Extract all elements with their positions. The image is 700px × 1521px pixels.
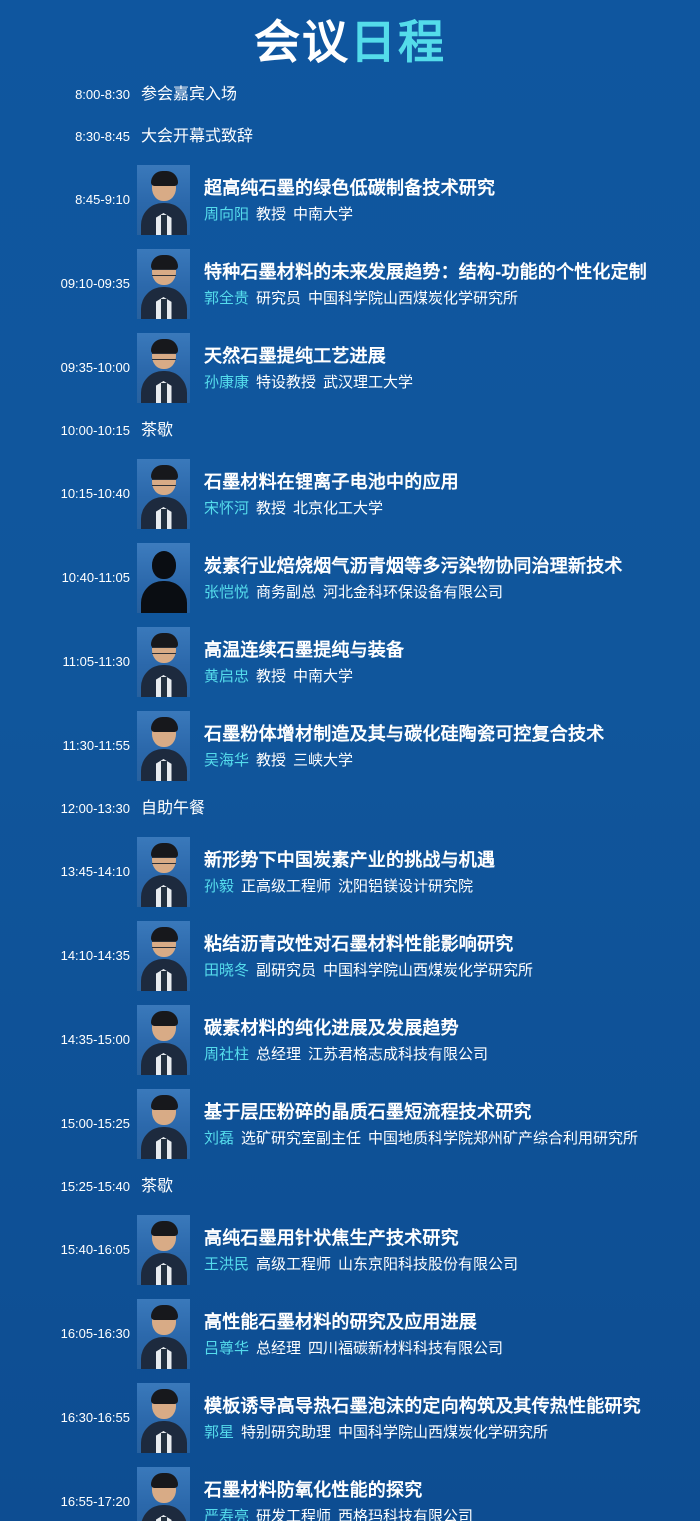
speaker-role: 选矿研究室副主任 (241, 1130, 361, 1147)
session-text: 高温连续石墨提纯与装备黄启忠教授中南大学 (190, 638, 700, 687)
agenda-session-row: 14:10-14:35粘结沥青改性对石墨材料性能影响研究田晓冬副研究员中国科学院… (0, 914, 700, 998)
session-text: 基于层压粉碎的晶质石墨短流程技术研究刘磊选矿研究室副主任中国地质科学院郑州矿产综… (190, 1100, 700, 1149)
photo-hair (151, 1011, 178, 1026)
agenda-break-row: 10:00-10:15茶歇 (0, 410, 700, 452)
talk-title: 碳素材料的纯化进展及发展趋势 (204, 1016, 700, 1040)
session-text: 特种石墨材料的未来发展趋势：结构-功能的个性化定制郭全贵研究员中国科学院山西煤炭… (190, 260, 700, 309)
speaker-org: 中国地质科学院郑州矿产综合利用研究所 (368, 1130, 638, 1147)
session-text: 石墨粉体增材制造及其与碳化硅陶瓷可控复合技术吴海华教授三峡大学 (190, 722, 700, 771)
talk-title: 基于层压粉碎的晶质石墨短流程技术研究 (204, 1100, 700, 1124)
talk-title: 高纯石墨用针状焦生产技术研究 (204, 1226, 700, 1250)
photo-hair (151, 843, 178, 858)
agenda-session-row: 11:05-11:30高温连续石墨提纯与装备黄启忠教授中南大学 (0, 620, 700, 704)
speaker-photo (137, 165, 190, 235)
photo-hair (151, 633, 178, 648)
session-text: 高纯石墨用针状焦生产技术研究王洪民高级工程师山东京阳科技股份有限公司 (190, 1226, 700, 1275)
speaker-role: 高级工程师 (256, 1256, 331, 1273)
agenda-session-row: 10:40-11:05炭素行业焙烧烟气沥青烟等多污染物协同治理新技术张恺悦商务副… (0, 536, 700, 620)
speaker-line: 孙康康特设教授武汉理工大学 (204, 373, 700, 393)
speaker-name: 周社柱 (204, 1046, 249, 1063)
photo-hair (151, 1305, 178, 1320)
speaker-org: 武汉理工大学 (323, 374, 413, 391)
agenda-time: 10:15-10:40 (0, 486, 130, 502)
agenda-time: 16:30-16:55 (0, 1410, 130, 1426)
speaker-photo (137, 627, 190, 697)
speaker-name: 田晓冬 (204, 962, 249, 979)
speaker-org: 中南大学 (293, 668, 353, 685)
speaker-line: 张恺悦商务副总河北金科环保设备有限公司 (204, 583, 700, 603)
agenda-time: 14:10-14:35 (0, 948, 130, 964)
speaker-role: 副研究员 (256, 962, 316, 979)
speaker-line: 吴海华教授三峡大学 (204, 751, 700, 771)
speaker-org: 中国科学院山西煤炭化学研究所 (323, 962, 533, 979)
speaker-org: 四川福碳新材料科技有限公司 (308, 1340, 503, 1357)
speaker-role: 特别研究助理 (241, 1424, 331, 1441)
speaker-line: 周社柱总经理江苏君格志成科技有限公司 (204, 1045, 700, 1065)
speaker-org: 沈阳铝镁设计研究院 (338, 878, 473, 895)
talk-title: 炭素行业焙烧烟气沥青烟等多污染物协同治理新技术 (204, 554, 700, 578)
photo-tie (161, 1139, 167, 1159)
agenda-time: 10:40-11:05 (0, 570, 130, 586)
session-text: 碳素材料的纯化进展及发展趋势周社柱总经理江苏君格志成科技有限公司 (190, 1016, 700, 1065)
photo-hair (151, 927, 178, 942)
agenda-time: 09:35-10:00 (0, 360, 130, 376)
photo-tie (161, 509, 167, 529)
talk-title: 高温连续石墨提纯与装备 (204, 638, 700, 662)
photo-hair (151, 171, 178, 186)
photo-tie (161, 1349, 167, 1369)
talk-title: 粘结沥青改性对石墨材料性能影响研究 (204, 932, 700, 956)
agenda-time: 8:45-9:10 (0, 192, 130, 208)
agenda-time: 15:40-16:05 (0, 1242, 130, 1258)
speaker-org: 中国科学院山西煤炭化学研究所 (338, 1424, 548, 1441)
photo-tie (161, 383, 167, 403)
session-text: 新形势下中国炭素产业的挑战与机遇孙毅正高级工程师沈阳铝镁设计研究院 (190, 848, 700, 897)
agenda-time: 8:30-8:45 (0, 129, 130, 145)
agenda-session-row: 09:10-09:35特种石墨材料的未来发展趋势：结构-功能的个性化定制郭全贵研… (0, 242, 700, 326)
speaker-photo (137, 1005, 190, 1075)
talk-title: 新形势下中国炭素产业的挑战与机遇 (204, 848, 700, 872)
agenda-session-row: 10:15-10:40石墨材料在锂离子电池中的应用宋怀河教授北京化工大学 (0, 452, 700, 536)
agenda-time: 16:55-17:20 (0, 1494, 130, 1510)
speaker-line: 黄启忠教授中南大学 (204, 667, 700, 687)
agenda-session-row: 13:45-14:10新形势下中国炭素产业的挑战与机遇孙毅正高级工程师沈阳铝镁设… (0, 830, 700, 914)
agenda-break-label: 自助午餐 (130, 799, 205, 819)
session-text: 超高纯石墨的绿色低碳制备技术研究周向阳教授中南大学 (190, 176, 700, 225)
session-text: 模板诱导高导热石墨泡沫的定向构筑及其传热性能研究郭星特别研究助理中国科学院山西煤… (190, 1394, 700, 1443)
session-text: 石墨材料在锂离子电池中的应用宋怀河教授北京化工大学 (190, 470, 700, 519)
speaker-photo (137, 1383, 190, 1453)
speaker-name: 吴海华 (204, 752, 249, 769)
speaker-name: 孙毅 (204, 878, 234, 895)
speaker-photo (137, 333, 190, 403)
photo-tie (161, 299, 167, 319)
speaker-photo (137, 249, 190, 319)
speaker-line: 吕尊华总经理四川福碳新材料科技有限公司 (204, 1339, 700, 1359)
speaker-name: 孙康康 (204, 374, 249, 391)
session-text: 石墨材料防氧化性能的探究严寿亮研发工程师西格玛科技有限公司 (190, 1478, 700, 1521)
agenda-break-label: 大会开幕式致辞 (130, 127, 253, 147)
speaker-role: 教授 (256, 206, 286, 223)
agenda-list: 8:00-8:30参会嘉宾入场8:30-8:45大会开幕式致辞8:45-9:10… (0, 74, 700, 1521)
photo-head (152, 551, 176, 579)
speaker-photo (137, 1089, 190, 1159)
photo-tie (161, 761, 167, 781)
speaker-org: 中南大学 (293, 206, 353, 223)
speaker-line: 王洪民高级工程师山东京阳科技股份有限公司 (204, 1255, 700, 1275)
speaker-org: 山东京阳科技股份有限公司 (338, 1256, 518, 1273)
speaker-role: 研究员 (256, 290, 301, 307)
speaker-line: 周向阳教授中南大学 (204, 205, 700, 225)
agenda-break-label: 参会嘉宾入场 (130, 85, 237, 105)
photo-hair (151, 1473, 178, 1488)
agenda-time: 14:35-15:00 (0, 1032, 130, 1048)
photo-tie (161, 1265, 167, 1285)
agenda-time: 15:00-15:25 (0, 1116, 130, 1132)
photo-tie (161, 887, 167, 907)
photo-tie (161, 1517, 167, 1521)
photo-tie (161, 677, 167, 697)
speaker-photo (137, 711, 190, 781)
speaker-org: 河北金科环保设备有限公司 (323, 584, 503, 601)
photo-tie (161, 1433, 167, 1453)
talk-title: 天然石墨提纯工艺进展 (204, 344, 700, 368)
agenda-session-row: 16:30-16:55模板诱导高导热石墨泡沫的定向构筑及其传热性能研究郭星特别研… (0, 1376, 700, 1460)
speaker-photo (137, 1299, 190, 1369)
photo-hair (151, 717, 178, 732)
agenda-session-row: 09:35-10:00天然石墨提纯工艺进展孙康康特设教授武汉理工大学 (0, 326, 700, 410)
speaker-org: 江苏君格志成科技有限公司 (308, 1046, 488, 1063)
agenda-session-row: 16:05-16:30高性能石墨材料的研究及应用进展吕尊华总经理四川福碳新材料科… (0, 1292, 700, 1376)
agenda-break-row: 12:00-13:30自助午餐 (0, 788, 700, 830)
speaker-photo (137, 1467, 190, 1521)
speaker-name: 王洪民 (204, 1256, 249, 1273)
agenda-time: 09:10-09:35 (0, 276, 130, 292)
page-title-primary: 会议 (254, 16, 350, 68)
speaker-name: 吕尊华 (204, 1340, 249, 1357)
agenda-session-row: 11:30-11:55石墨粉体增材制造及其与碳化硅陶瓷可控复合技术吴海华教授三峡… (0, 704, 700, 788)
agenda-session-row: 15:00-15:25基于层压粉碎的晶质石墨短流程技术研究刘磊选矿研究室副主任中… (0, 1082, 700, 1166)
speaker-org: 中国科学院山西煤炭化学研究所 (308, 290, 518, 307)
session-text: 天然石墨提纯工艺进展孙康康特设教授武汉理工大学 (190, 344, 700, 393)
agenda-break-row: 15:25-15:40茶歇 (0, 1166, 700, 1208)
agenda-session-row: 15:40-16:05高纯石墨用针状焦生产技术研究王洪民高级工程师山东京阳科技股… (0, 1208, 700, 1292)
speaker-role: 总经理 (256, 1046, 301, 1063)
speaker-name: 郭星 (204, 1424, 234, 1441)
agenda-session-row: 16:55-17:20石墨材料防氧化性能的探究严寿亮研发工程师西格玛科技有限公司 (0, 1460, 700, 1521)
talk-title: 模板诱导高导热石墨泡沫的定向构筑及其传热性能研究 (204, 1394, 700, 1418)
agenda-break-label: 茶歇 (130, 421, 173, 441)
speaker-name: 郭全贵 (204, 290, 249, 307)
speaker-name: 严寿亮 (204, 1508, 249, 1521)
photo-tie (161, 215, 167, 235)
speaker-photo (137, 921, 190, 991)
agenda-time: 11:05-11:30 (0, 654, 130, 670)
speaker-role: 特设教授 (256, 374, 316, 391)
photo-hair (151, 1095, 178, 1110)
speaker-photo (137, 1215, 190, 1285)
talk-title: 高性能石墨材料的研究及应用进展 (204, 1310, 700, 1334)
agenda-time: 16:05-16:30 (0, 1326, 130, 1342)
speaker-line: 郭星特别研究助理中国科学院山西煤炭化学研究所 (204, 1423, 700, 1443)
speaker-org: 三峡大学 (293, 752, 353, 769)
agenda-break-row: 8:00-8:30参会嘉宾入场 (0, 74, 700, 116)
session-text: 炭素行业焙烧烟气沥青烟等多污染物协同治理新技术张恺悦商务副总河北金科环保设备有限… (190, 554, 700, 603)
photo-hair (151, 1389, 178, 1404)
agenda-session-row: 8:45-9:10超高纯石墨的绿色低碳制备技术研究周向阳教授中南大学 (0, 158, 700, 242)
speaker-role: 商务副总 (256, 584, 316, 601)
photo-hair (151, 1221, 178, 1236)
photo-torso (141, 581, 187, 613)
agenda-session-row: 14:35-15:00碳素材料的纯化进展及发展趋势周社柱总经理江苏君格志成科技有… (0, 998, 700, 1082)
speaker-line: 孙毅正高级工程师沈阳铝镁设计研究院 (204, 877, 700, 897)
agenda-break-label: 茶歇 (130, 1177, 173, 1197)
agenda-time: 10:00-10:15 (0, 423, 130, 439)
talk-title: 石墨材料在锂离子电池中的应用 (204, 470, 700, 494)
speaker-org: 北京化工大学 (293, 500, 383, 517)
photo-tie (161, 971, 167, 991)
talk-title: 超高纯石墨的绿色低碳制备技术研究 (204, 176, 700, 200)
speaker-name: 张恺悦 (204, 584, 249, 601)
speaker-role: 研发工程师 (256, 1508, 331, 1521)
talk-title: 石墨粉体增材制造及其与碳化硅陶瓷可控复合技术 (204, 722, 700, 746)
agenda-page: 会议日程 8:00-8:30参会嘉宾入场8:30-8:45大会开幕式致辞8:45… (0, 0, 700, 1521)
speaker-line: 刘磊选矿研究室副主任中国地质科学院郑州矿产综合利用研究所 (204, 1129, 700, 1149)
speaker-name: 刘磊 (204, 1130, 234, 1147)
speaker-line: 严寿亮研发工程师西格玛科技有限公司 (204, 1507, 700, 1521)
talk-title: 特种石墨材料的未来发展趋势：结构-功能的个性化定制 (204, 260, 700, 284)
speaker-photo (137, 543, 190, 613)
agenda-time: 13:45-14:10 (0, 864, 130, 880)
photo-hair (151, 465, 178, 480)
photo-tie (161, 1055, 167, 1075)
talk-title: 石墨材料防氧化性能的探究 (204, 1478, 700, 1502)
agenda-time: 8:00-8:30 (0, 87, 130, 103)
speaker-org: 西格玛科技有限公司 (338, 1508, 473, 1521)
page-title-accent: 日程 (350, 16, 446, 68)
session-text: 粘结沥青改性对石墨材料性能影响研究田晓冬副研究员中国科学院山西煤炭化学研究所 (190, 932, 700, 981)
speaker-line: 田晓冬副研究员中国科学院山西煤炭化学研究所 (204, 961, 700, 981)
speaker-photo (137, 459, 190, 529)
session-text: 高性能石墨材料的研究及应用进展吕尊华总经理四川福碳新材料科技有限公司 (190, 1310, 700, 1359)
speaker-role: 总经理 (256, 1340, 301, 1357)
speaker-role: 教授 (256, 500, 286, 517)
agenda-time: 12:00-13:30 (0, 801, 130, 817)
speaker-name: 黄启忠 (204, 668, 249, 685)
speaker-name: 周向阳 (204, 206, 249, 223)
speaker-role: 正高级工程师 (241, 878, 331, 895)
agenda-break-row: 8:30-8:45大会开幕式致辞 (0, 116, 700, 158)
speaker-line: 宋怀河教授北京化工大学 (204, 499, 700, 519)
photo-hair (151, 255, 178, 270)
page-title: 会议日程 (0, 0, 700, 74)
speaker-role: 教授 (256, 752, 286, 769)
speaker-name: 宋怀河 (204, 500, 249, 517)
agenda-time: 11:30-11:55 (0, 738, 130, 754)
photo-hair (151, 339, 178, 354)
agenda-time: 15:25-15:40 (0, 1179, 130, 1195)
speaker-role: 教授 (256, 668, 286, 685)
speaker-photo (137, 837, 190, 907)
speaker-line: 郭全贵研究员中国科学院山西煤炭化学研究所 (204, 289, 700, 309)
